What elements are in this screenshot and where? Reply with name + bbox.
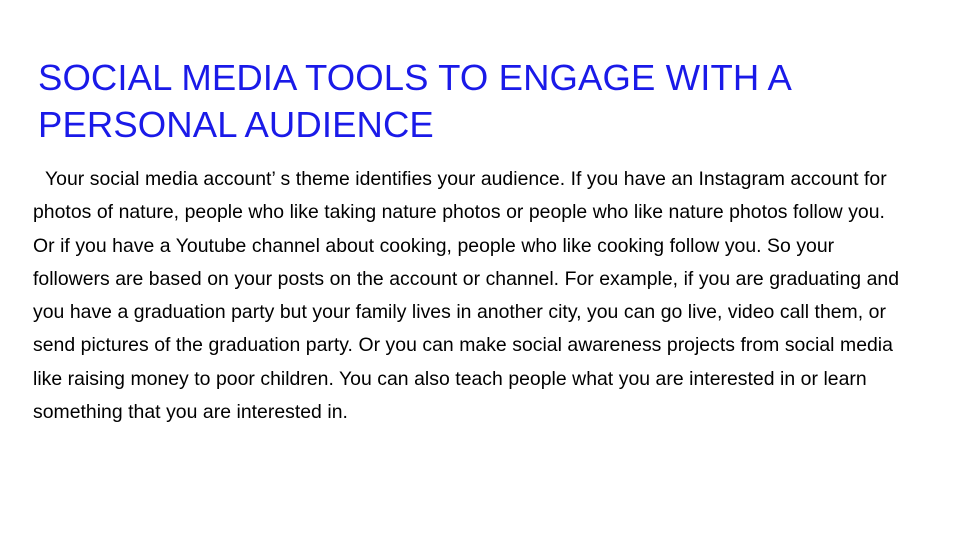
slide-body-text: Your social media account’ s theme ident… [33,163,911,429]
slide-title: SOCIAL MEDIA TOOLS TO ENGAGE WITH A PERS… [38,54,910,148]
slide-canvas: SOCIAL MEDIA TOOLS TO ENGAGE WITH A PERS… [0,0,960,540]
